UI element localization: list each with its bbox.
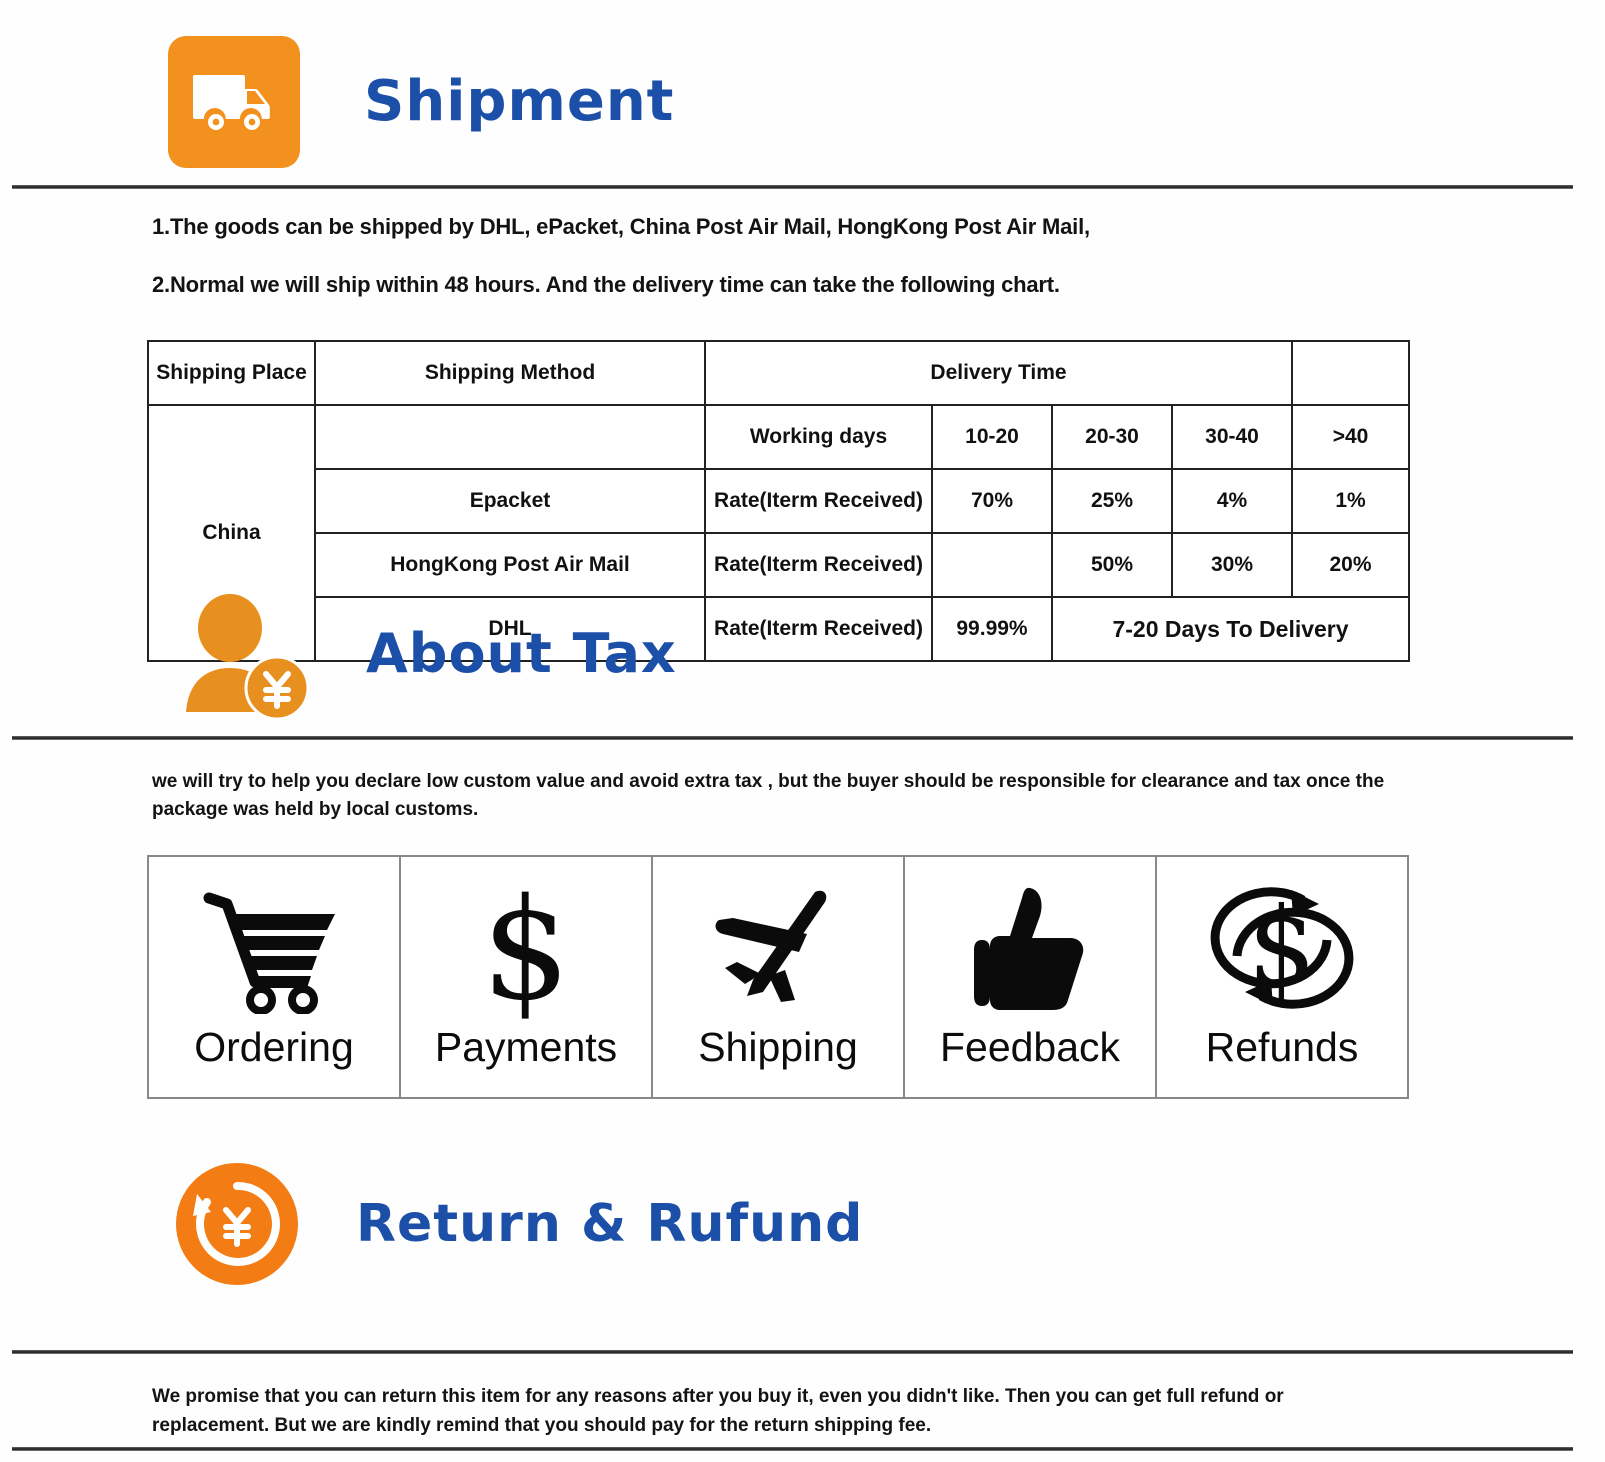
shipment-title: Shipment [364,74,674,130]
service-icon-tiles: Ordering $ Payments [147,855,1409,1099]
thumbs-up-icon [960,875,1100,1025]
th-spacer [1292,341,1409,405]
td-epacket-10-20: 70% [932,469,1052,533]
tile-label-payments: Payments [435,1027,617,1068]
td-dhl-rate: 99.99% [932,597,1052,661]
product-description-page: Shipment 1.The goods can be shipped by D… [0,0,1605,1462]
tile-label-feedback: Feedback [940,1027,1120,1068]
tax-title: About Tax [366,627,677,681]
td-range-over-40: >40 [1292,405,1409,469]
td-dhl-delivery-note: 7-20 Days To Delivery [1052,597,1409,661]
td-method-blank [315,405,705,469]
td-hk-20-30: 50% [1052,533,1172,597]
td-hk-10-20 [932,533,1052,597]
table-row-working-days: China Working days 10-20 20-30 30-40 >40 [148,405,1409,469]
td-hk-30-40: 30% [1172,533,1292,597]
td-range-10-20: 10-20 [932,405,1052,469]
dollar-sign-icon: $ [471,875,581,1025]
td-method-epacket: Epacket [315,469,705,533]
airplane-icon [703,875,853,1025]
divider-rule-middle [12,736,1573,740]
svg-text:$: $ [481,880,570,1020]
tile-feedback[interactable]: Feedback [905,857,1157,1097]
tile-label-ordering: Ordering [194,1027,354,1068]
shipment-section-header: Shipment [168,36,674,168]
dollar-refund-circle-icon: $ [1207,875,1357,1025]
tile-label-refunds: Refunds [1206,1027,1359,1068]
refund-yen-icon [176,1163,298,1285]
td-epacket-over-40: 1% [1292,469,1409,533]
return-title: Return & Rufund [356,1198,863,1250]
svg-text:$: $ [1248,885,1317,1010]
td-range-20-30: 20-30 [1052,405,1172,469]
td-rate-label-epacket: Rate(Iterm Received) [705,469,932,533]
th-shipping-method: Shipping Method [315,341,705,405]
td-rate-label-hk-post: Rate(Iterm Received) [705,533,932,597]
td-rate-label-dhl: Rate(Iterm Received) [705,597,932,661]
td-working-days-label: Working days [705,405,932,469]
table-row: Epacket Rate(Iterm Received) 70% 25% 4% … [148,469,1409,533]
truck-icon [168,36,300,168]
return-paragraph: We promise that you can return this item… [152,1382,1402,1441]
th-delivery-time: Delivery Time [705,341,1292,405]
divider-rule-top [12,185,1573,189]
tile-label-shipping: Shipping [698,1027,858,1068]
td-range-30-40: 30-40 [1172,405,1292,469]
divider-rule-lower [12,1350,1573,1354]
table-header-row: Shipping Place Shipping Method Delivery … [148,341,1409,405]
tile-refunds[interactable]: $ Refunds [1157,857,1407,1097]
dhl-days-range: 7-20 [1112,616,1158,642]
tile-shipping[interactable]: Shipping [653,857,905,1097]
shipment-line-1: 1.The goods can be shipped by DHL, ePack… [152,214,1090,240]
divider-rule-bottom [12,1447,1573,1451]
return-section-header: Return & Rufund [176,1163,863,1285]
shopping-cart-icon [199,875,349,1025]
shipment-line-2: 2.Normal we will ship within 48 hours. A… [152,272,1060,298]
tax-section-header: About Tax [178,588,677,720]
tax-paragraph: we will try to help you declare low cust… [152,768,1408,823]
td-epacket-20-30: 25% [1052,469,1172,533]
td-hk-over-40: 20% [1292,533,1409,597]
td-epacket-30-40: 4% [1172,469,1292,533]
th-shipping-place: Shipping Place [148,341,315,405]
person-with-yen-icon [178,588,310,720]
dhl-days-text: Days To Delivery [1159,616,1349,642]
tile-ordering[interactable]: Ordering [149,857,401,1097]
tile-payments[interactable]: $ Payments [401,857,653,1097]
